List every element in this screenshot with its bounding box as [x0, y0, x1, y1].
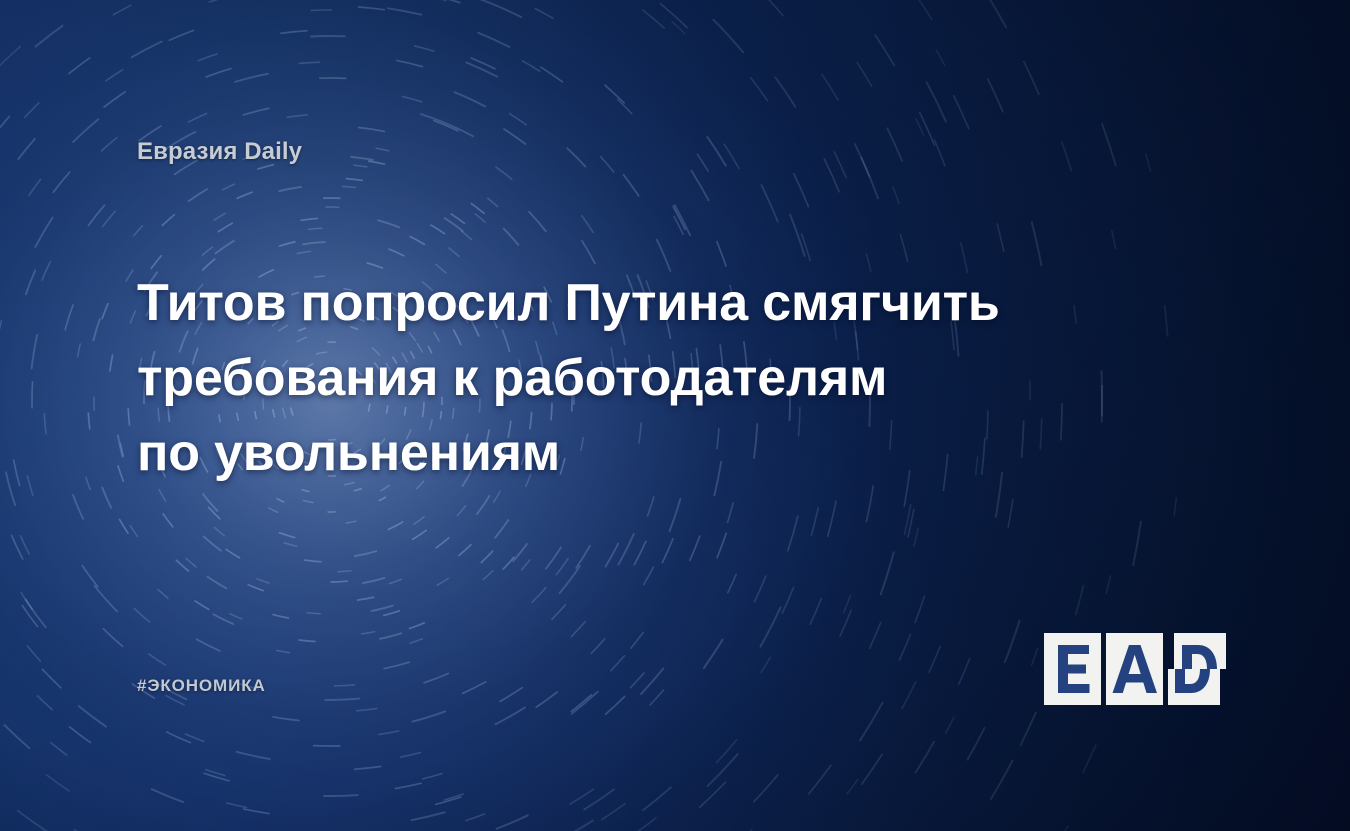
logo-tile-d-split-group	[1168, 633, 1226, 705]
headline-line-3: по увольнениям	[137, 416, 1097, 491]
logo-tile-e-group	[1044, 633, 1101, 705]
ead-logo	[1044, 633, 1226, 705]
category-hashtag: #ЭКОНОМИКА	[137, 676, 266, 696]
headline: Титов попросил Путина смягчить требовани…	[137, 266, 1097, 491]
headline-line-1: Титов попросил Путина смягчить	[137, 266, 1097, 341]
logo-tile-a-group	[1106, 633, 1163, 705]
brand-name: Евразия Daily	[137, 138, 302, 166]
headline-line-2: требования к работодателям	[137, 341, 1097, 416]
share-card: Евразия Daily Титов попросил Путина смяг…	[0, 0, 1350, 831]
